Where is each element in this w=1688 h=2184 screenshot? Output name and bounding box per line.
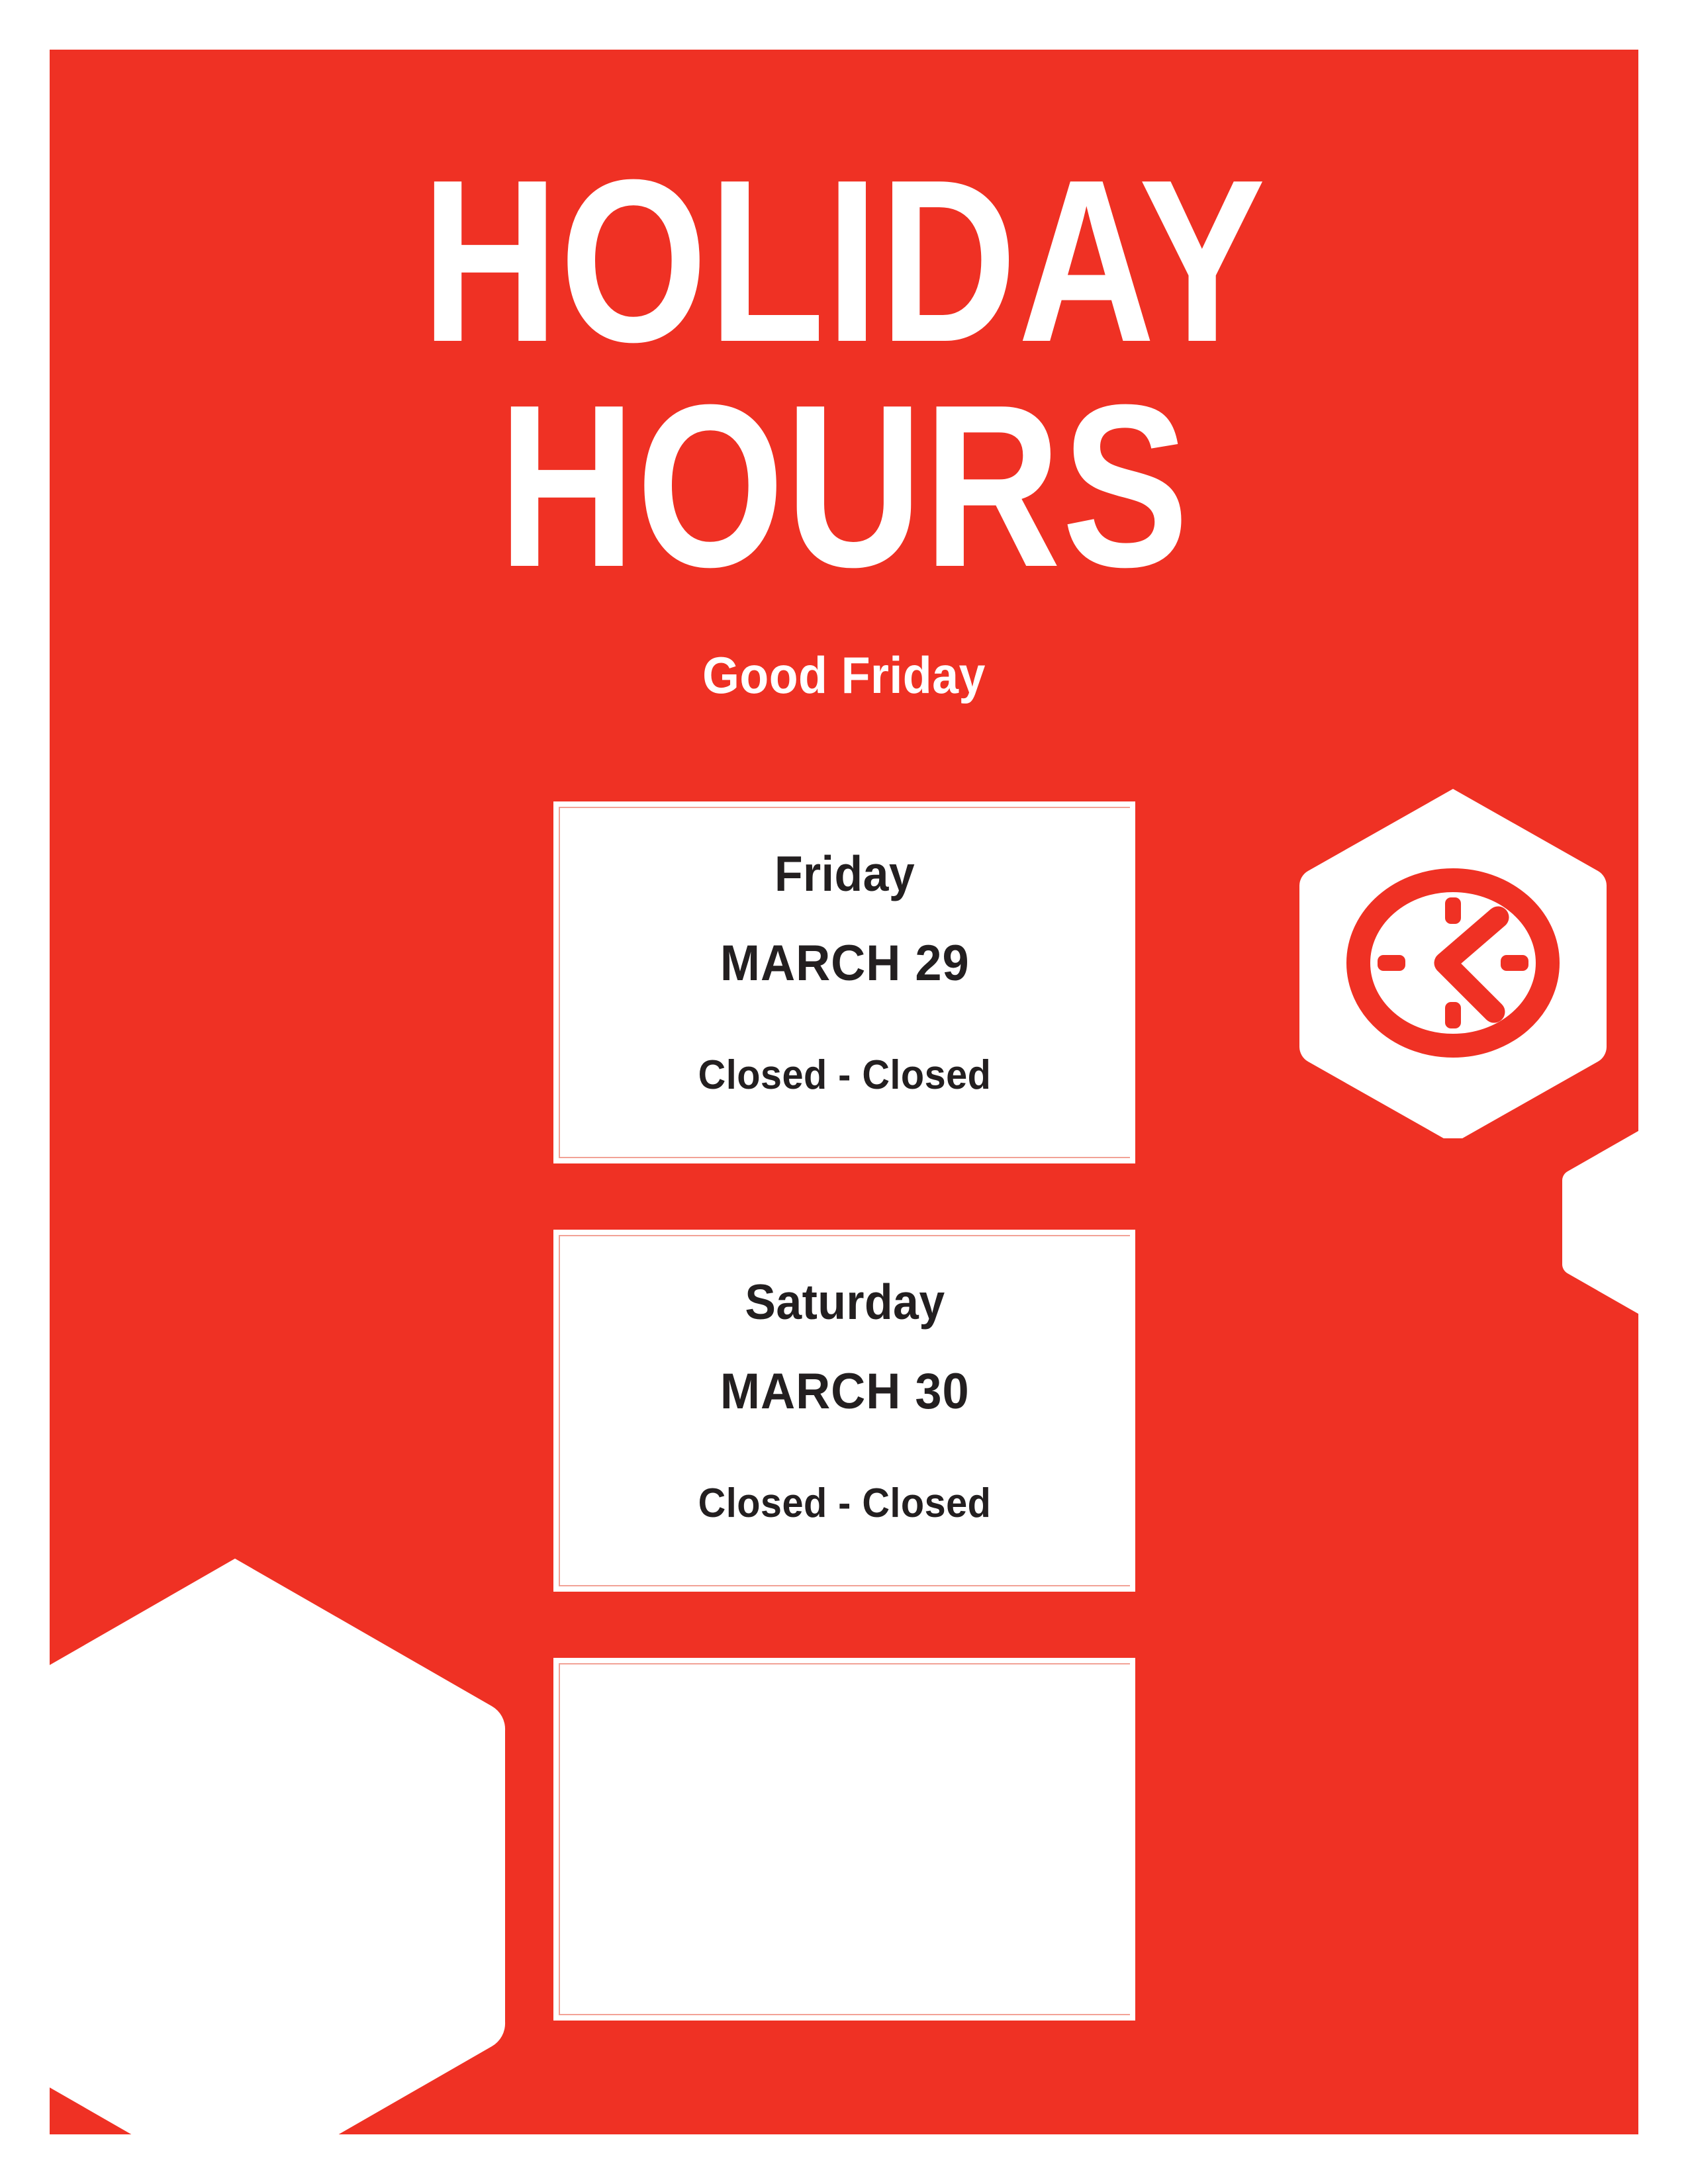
poster-red-panel: HOLIDAY HOURS Good Friday [50,50,1638,2134]
poster-subtitle: Good Friday [113,645,1575,705]
hours-card-hours: Closed - Closed [698,1483,992,1524]
hexagon-accent-icon [1542,1125,1638,1324]
hours-card-hours: Closed - Closed [698,1055,992,1096]
hours-card: Friday MARCH 29 Closed - Closed [553,801,1135,1163]
hours-card: Saturday MARCH 30 Closed - Closed [553,1230,1135,1592]
hours-card [553,1658,1135,2021]
hours-card-date: MARCH 30 [720,1367,970,1417]
clock-hexagon-svg [1254,741,1638,1138]
headline-line-1: HOLIDAY [193,149,1495,374]
clock-tick-6 [1445,1002,1461,1028]
clock-tick-3 [1501,955,1528,971]
clock-tick-9 [1378,955,1405,971]
clock-in-hexagon-icon [1254,741,1638,1138]
hours-card-day: Friday [774,849,915,899]
holiday-hours-poster: HOLIDAY HOURS Good Friday [0,0,1688,2184]
headline-line-2: HOURS [193,374,1495,599]
hours-card-inner [559,1663,1130,2015]
hours-card-day: Saturday [745,1277,945,1327]
clock-tick-12 [1445,897,1461,924]
hours-card-inner: Friday MARCH 29 Closed - Closed [559,807,1130,1158]
hours-card-inner: Saturday MARCH 30 Closed - Closed [559,1235,1130,1586]
hexagon-shape [50,1559,505,2134]
hexagon-accent-large-svg [50,1532,533,2134]
hexagon-accent-large-icon [50,1532,533,2134]
page-title: HOLIDAY HOURS [50,149,1638,598]
hours-card-date: MARCH 29 [720,938,970,989]
hexagon-shape [1562,1129,1638,1316]
hexagon-accent-svg [1542,1125,1638,1324]
